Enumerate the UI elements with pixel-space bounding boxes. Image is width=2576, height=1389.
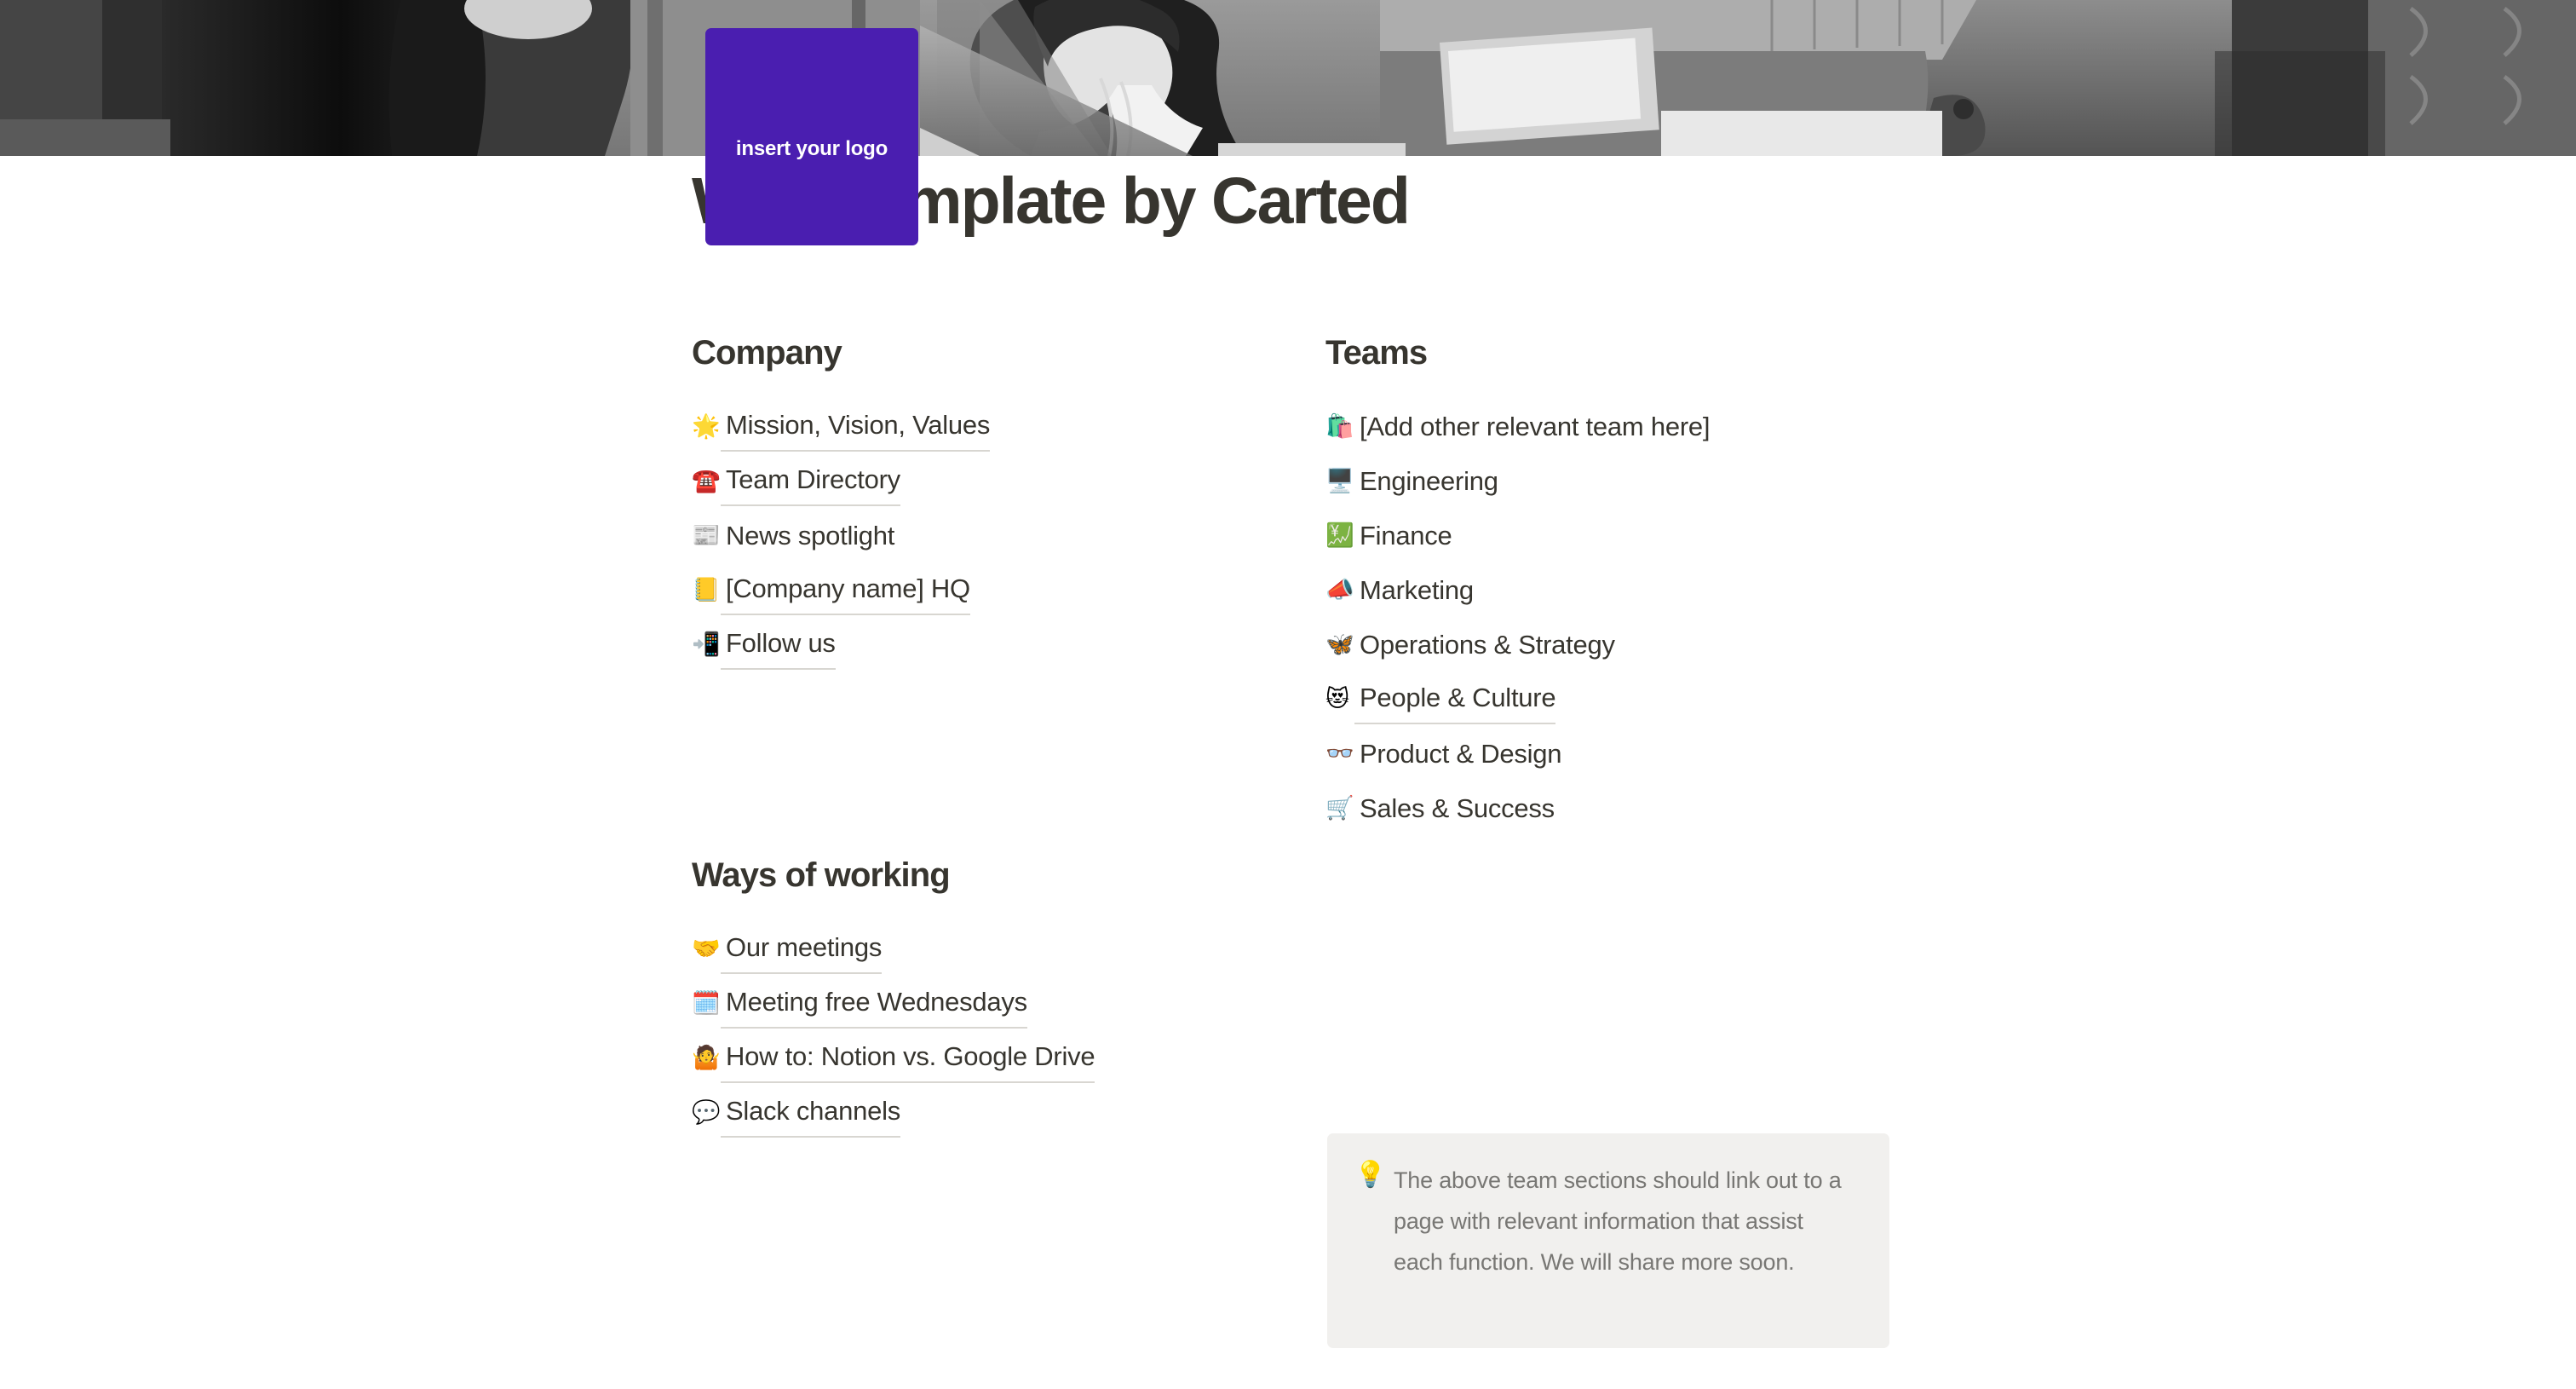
glowing-star-icon: 🌟: [692, 400, 721, 454]
list-item[interactable]: ☎️Team Directory: [692, 454, 1288, 509]
section-teams: Teams 🛍️[Add other relevant team here]🖥️…: [1325, 334, 1922, 836]
mobile-phone-with-arrow-icon: 📲: [692, 618, 721, 672]
ways-item-label[interactable]: Our meetings: [721, 925, 882, 974]
list-item[interactable]: 🛍️[Add other relevant team here]: [1325, 400, 1922, 454]
company-item-label[interactable]: [Company name] HQ: [721, 566, 970, 615]
company-item-label[interactable]: Team Directory: [721, 457, 900, 506]
team-item-label[interactable]: People & Culture: [1354, 675, 1555, 724]
list-item[interactable]: 😻People & Culture: [1325, 672, 1922, 727]
spiral-calendar-icon: 🗓️: [692, 977, 721, 1031]
list-item[interactable]: 🤷How to: Notion vs. Google Drive: [692, 1031, 1288, 1086]
link-list-ways-of-working: 🤝Our meetings🗓️Meeting free Wednesdays🤷H…: [692, 922, 1288, 1140]
team-item-label: Operations & Strategy: [1354, 618, 1615, 672]
list-item[interactable]: 🛒Sales & Success: [1325, 781, 1922, 836]
list-item[interactable]: 🤝Our meetings: [692, 922, 1288, 977]
list-item[interactable]: 🗓️Meeting free Wednesdays: [692, 977, 1288, 1031]
desktop-computer-icon: 🖥️: [1325, 454, 1354, 509]
team-item-label: [Add other relevant team here]: [1354, 400, 1710, 454]
telephone-icon: ☎️: [692, 454, 721, 509]
chart-increasing-yen-icon: 💹: [1325, 509, 1354, 563]
list-item[interactable]: 👓Product & Design: [1325, 727, 1922, 781]
list-item[interactable]: 📣Marketing: [1325, 563, 1922, 618]
team-item-label: Product & Design: [1354, 727, 1561, 781]
info-callout: 💡 The above team sections should link ou…: [1327, 1133, 1889, 1348]
ledger-notebook-icon: 📒: [692, 563, 721, 618]
speech-balloon-icon: 💬: [692, 1086, 721, 1140]
list-item[interactable]: 📲Follow us: [692, 618, 1288, 672]
newspaper-icon: 📰: [692, 509, 721, 563]
logo-placeholder-label: insert your logo: [705, 137, 918, 161]
section-heading-teams: Teams: [1325, 334, 1922, 372]
company-item-label[interactable]: Mission, Vision, Values: [721, 402, 990, 452]
megaphone-icon: 📣: [1325, 563, 1354, 618]
link-list-company: 🌟Mission, Vision, Values☎️Team Directory…: [692, 400, 1288, 672]
person-shrugging-icon: 🤷: [692, 1031, 721, 1086]
section-heading-ways-of-working: Ways of working: [692, 856, 1288, 895]
team-item-label: Finance: [1354, 509, 1452, 563]
team-item-label: Sales & Success: [1354, 781, 1555, 836]
cover-photo-art: [0, 0, 2576, 156]
section-heading-company: Company: [692, 334, 1288, 372]
ways-item-label[interactable]: Meeting free Wednesdays: [721, 979, 1027, 1029]
butterfly-icon: 🦋: [1325, 618, 1354, 672]
link-list-teams: 🛍️[Add other relevant team here]🖥️Engine…: [1325, 400, 1922, 836]
section-company: Company 🌟Mission, Vision, Values☎️Team D…: [692, 334, 1288, 672]
company-item-label[interactable]: Follow us: [721, 620, 836, 670]
handshake-icon: 🤝: [692, 922, 721, 977]
cover-photo[interactable]: [0, 0, 2576, 156]
light-bulb-icon: 💡: [1354, 1160, 1394, 1190]
logo-placeholder[interactable]: insert your logo: [705, 28, 918, 245]
list-item[interactable]: 📰News spotlight: [692, 509, 1288, 563]
list-item[interactable]: 🦋Operations & Strategy: [1325, 618, 1922, 672]
list-item[interactable]: 💬Slack channels: [692, 1086, 1288, 1140]
heart-eyes-cat-icon: 😻: [1325, 672, 1354, 727]
list-item[interactable]: 🖥️Engineering: [1325, 454, 1922, 509]
info-callout-text: The above team sections should link out …: [1394, 1160, 1858, 1282]
eyeglasses-icon: 👓: [1325, 727, 1354, 781]
list-item[interactable]: 📒[Company name] HQ: [692, 563, 1288, 618]
ways-item-label[interactable]: How to: Notion vs. Google Drive: [721, 1034, 1095, 1083]
list-item[interactable]: 💹Finance: [1325, 509, 1922, 563]
section-ways-of-working: Ways of working 🤝Our meetings🗓️Meeting f…: [692, 856, 1288, 1140]
shopping-cart-icon: 🛒: [1325, 781, 1354, 836]
shopping-bags-icon: 🛍️: [1325, 400, 1354, 454]
company-item-label: News spotlight: [721, 509, 894, 563]
team-item-label: Marketing: [1354, 563, 1474, 618]
ways-item-label[interactable]: Slack channels: [721, 1088, 900, 1138]
wiki-page: insert your logo Wiki Template by Carted…: [0, 0, 2576, 1389]
team-item-label: Engineering: [1354, 454, 1498, 509]
list-item[interactable]: 🌟Mission, Vision, Values: [692, 400, 1288, 454]
